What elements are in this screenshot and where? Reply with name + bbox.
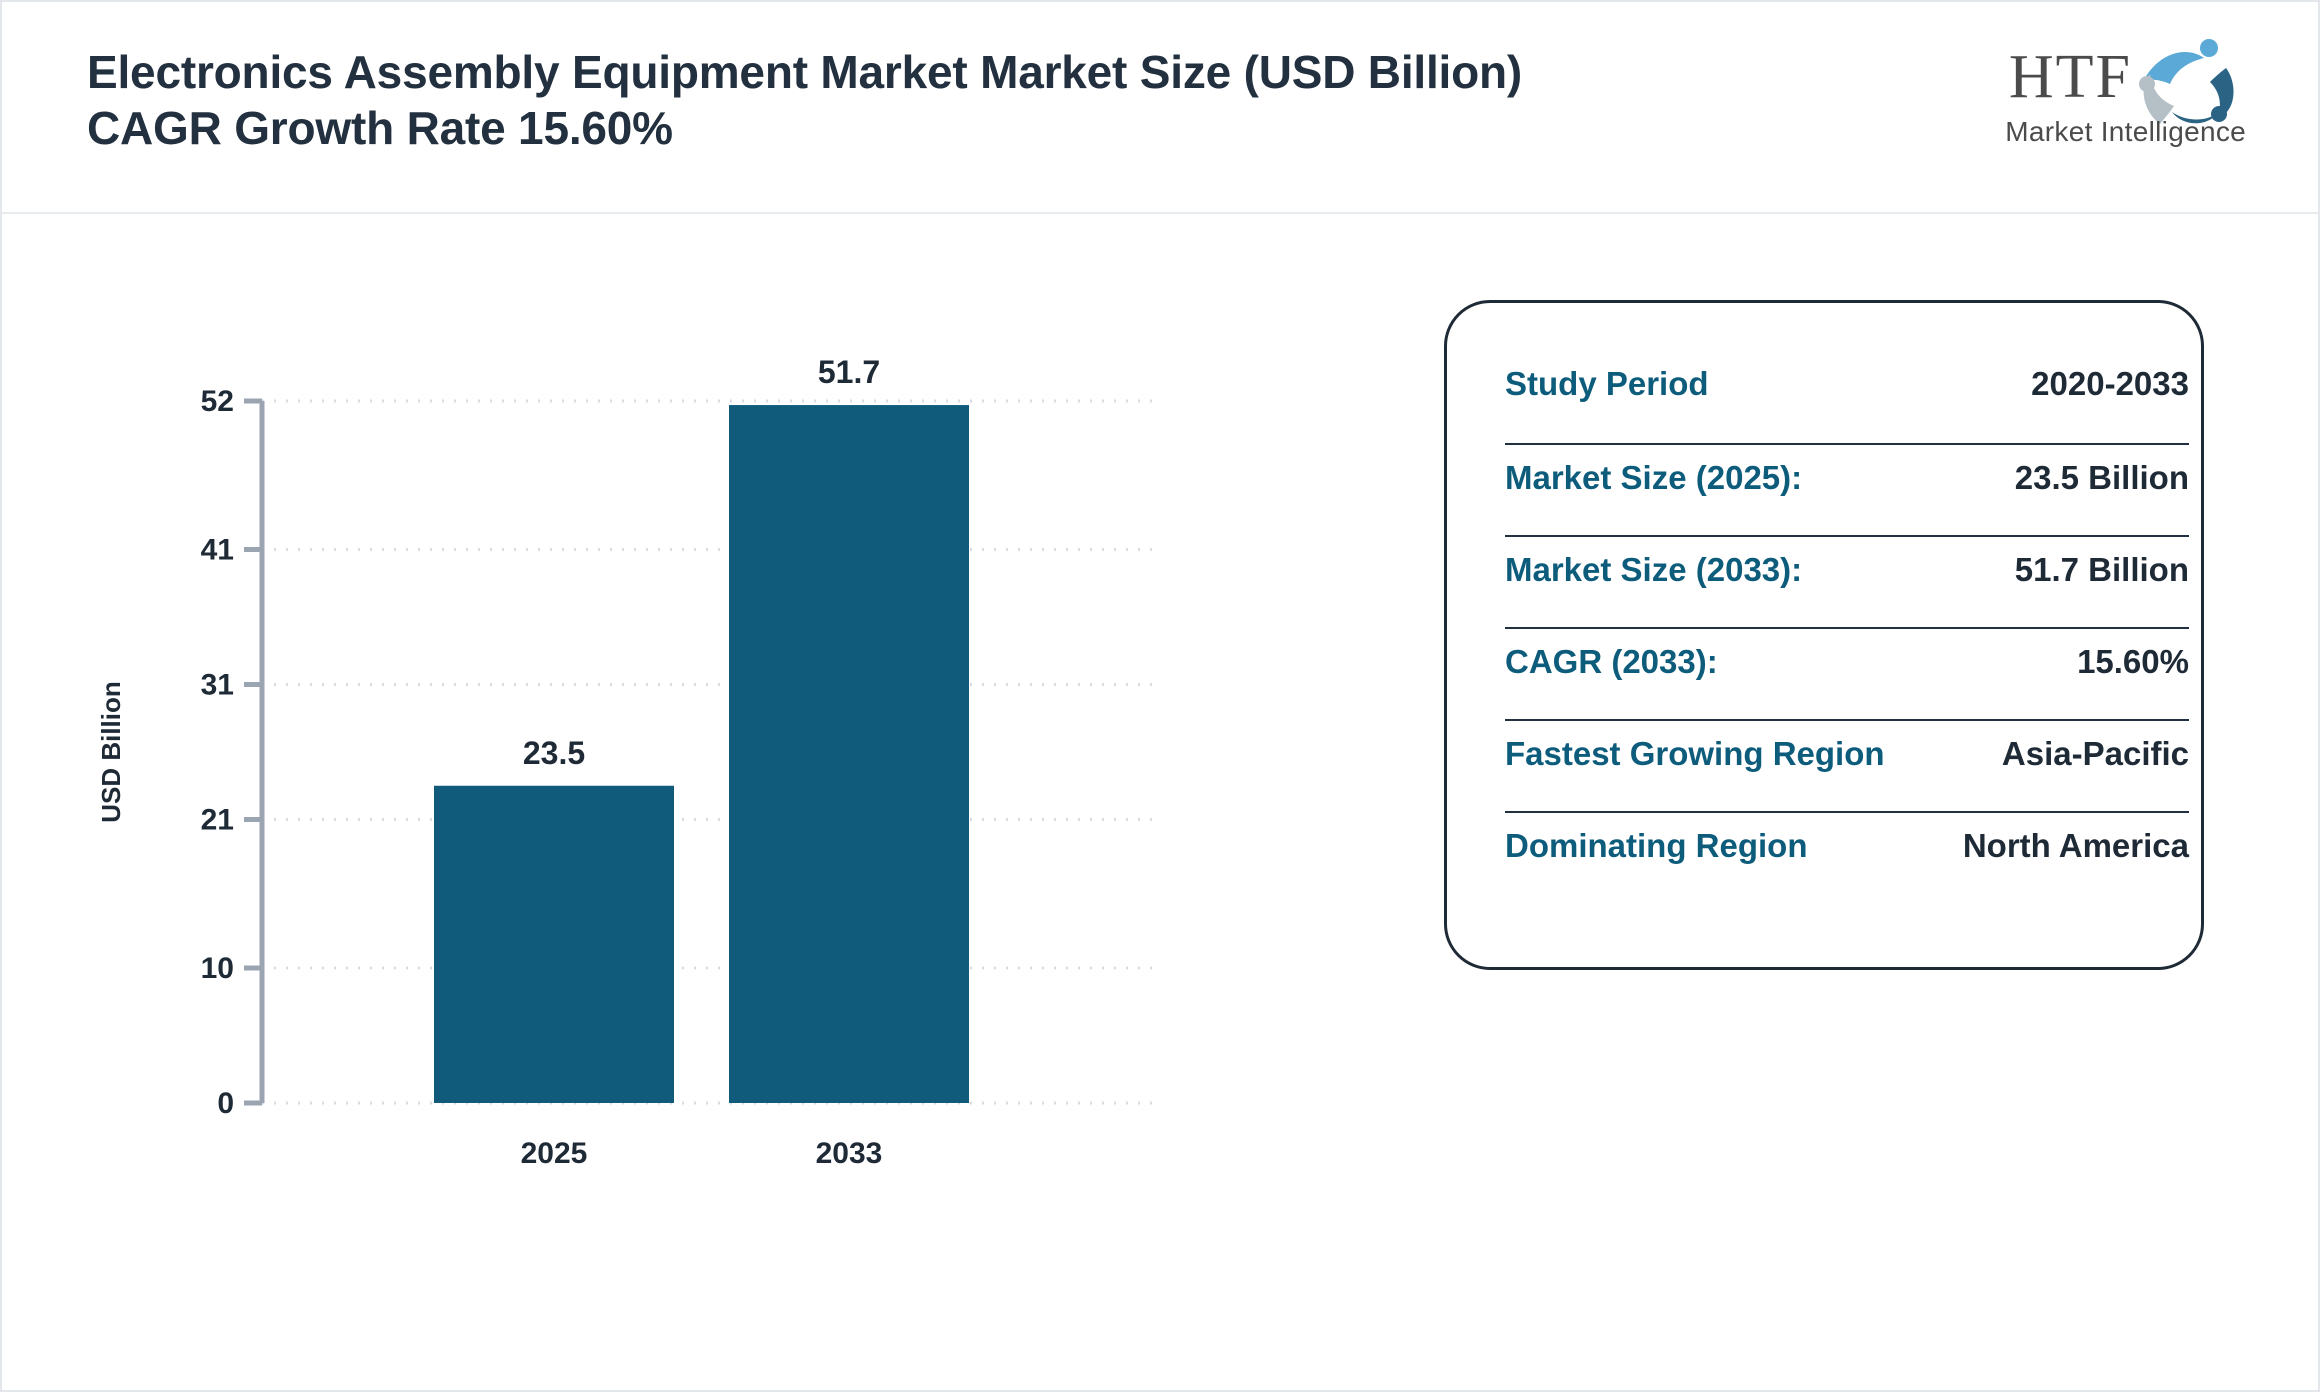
bar-chart: 01021314152 23.551.7 20252033 USD Billio… [2, 214, 1182, 1392]
summary-row-value: 15.60% [2077, 643, 2189, 681]
summary-row-label: Dominating Region [1505, 827, 1807, 865]
summary-row-label: Fastest Growing Region [1505, 735, 1885, 773]
y-tick-label: 0 [217, 1087, 234, 1120]
bar [434, 786, 674, 1103]
summary-row-label: Market Size (2025): [1505, 459, 1802, 497]
summary-row-label: Study Period [1505, 365, 1709, 403]
summary-row-value: Asia-Pacific [2002, 735, 2189, 773]
chart-gridlines [262, 401, 1152, 1103]
summary-row: CAGR (2033):15.60% [1505, 627, 2189, 719]
summary-row: Market Size (2025):23.5 Billion [1505, 443, 2189, 535]
x-axis-tick-labels: 20252033 [521, 1137, 883, 1170]
summary-row-value: North America [1963, 827, 2189, 865]
market-summary-rows: Study Period2020-2033Market Size (2025):… [1505, 351, 2189, 903]
market-summary-card: Study Period2020-2033Market Size (2025):… [1444, 300, 2204, 970]
bar [729, 405, 969, 1103]
header: Electronics Assembly Equipment Market Ma… [2, 2, 2318, 214]
y-axis-ticks [244, 401, 262, 1103]
x-tick-label: 2025 [521, 1137, 588, 1170]
y-tick-label: 41 [201, 534, 234, 567]
summary-row-value: 23.5 Billion [2015, 459, 2189, 497]
logo-htf-text: HTF [2009, 46, 2132, 108]
y-axis-tick-labels: 01021314152 [201, 385, 234, 1120]
summary-row: Study Period2020-2033 [1505, 351, 2189, 443]
summary-row: Fastest Growing RegionAsia-Pacific [1505, 719, 2189, 811]
y-tick-label: 52 [201, 385, 234, 418]
brand-logo: HTF Market Intelligence [1830, 40, 2250, 170]
y-tick-label: 10 [201, 952, 234, 985]
y-tick-label: 31 [201, 669, 234, 702]
bar-value-label: 23.5 [523, 735, 585, 771]
page-title: Electronics Assembly Equipment Market Ma… [87, 44, 1537, 156]
summary-row-value: 2020-2033 [2031, 365, 2189, 403]
y-axis-title: USD Billion [96, 681, 126, 823]
x-tick-label: 2033 [816, 1137, 883, 1170]
bar-value-label: 51.7 [818, 354, 880, 390]
y-tick-label: 21 [201, 804, 234, 837]
logo-tagline: Market Intelligence [1830, 116, 2250, 148]
summary-row-label: Market Size (2033): [1505, 551, 1802, 589]
summary-row: Market Size (2033):51.7 Billion [1505, 535, 2189, 627]
summary-row-value: 51.7 Billion [2015, 551, 2189, 589]
summary-row-label: CAGR (2033): [1505, 643, 1718, 681]
summary-row: Dominating RegionNorth America [1505, 811, 2189, 903]
chart-bars [434, 405, 969, 1103]
infographic-page: Electronics Assembly Equipment Market Ma… [0, 0, 2320, 1392]
